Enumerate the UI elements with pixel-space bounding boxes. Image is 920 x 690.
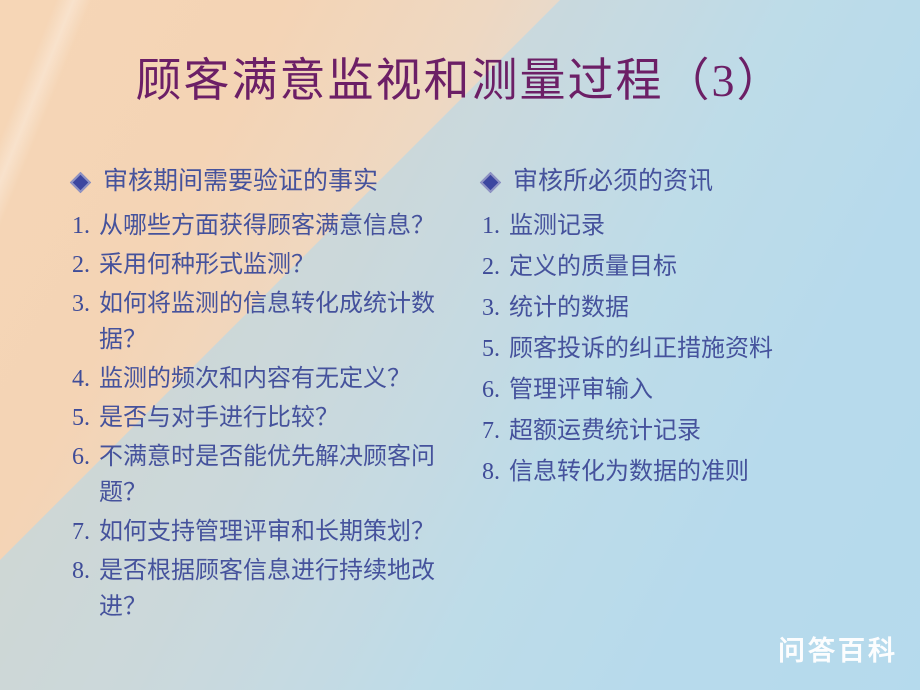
list-item-text: 信息转化为数据的准则 <box>509 454 882 490</box>
column-right-heading-label: 审核所必须的资讯 <box>513 166 713 198</box>
list-item: 8. 是否根据顾客信息进行持续地改进？ <box>72 553 472 625</box>
list-item-text: 是否与对手进行比较？ <box>99 400 472 436</box>
list-item-number: 5. <box>72 400 90 436</box>
column-left-list: 1. 从哪些方面获得顾客满意信息？ 2. 采用何种形式监测？ 3. 如何将监测的… <box>72 208 472 625</box>
list-item-number: 5. <box>482 331 500 367</box>
list-item: 7. 超额运费统计记录 <box>482 413 882 449</box>
list-item-text: 是否根据顾客信息进行持续地改进？ <box>99 553 472 625</box>
list-item-text: 采用何种形式监测？ <box>99 247 472 283</box>
list-item-text: 超额运费统计记录 <box>509 413 882 449</box>
list-item: 2. 定义的质量目标 <box>482 249 882 285</box>
list-item-text: 如何将监测的信息转化成统计数据？ <box>99 286 472 358</box>
diamond-bullet-icon <box>482 174 499 191</box>
column-right-heading: 审核所必须的资讯 <box>482 166 882 198</box>
list-item-number: 7. <box>482 413 500 449</box>
column-left-heading-label: 审核期间需要验证的事实 <box>103 166 378 198</box>
page-title: 顾客满意监视和测量过程（3） <box>0 44 920 110</box>
column-right: 审核所必须的资讯 1. 监测记录 2. 定义的质量目标 3. 统计的数据 5. … <box>482 166 882 495</box>
list-item: 1. 监测记录 <box>482 208 882 244</box>
slide-canvas: 顾客满意监视和测量过程（3） 审核期间需要验证的事实 1. 从哪些方面获得顾客满… <box>0 0 920 690</box>
list-item-number: 2. <box>482 249 500 285</box>
list-item-number: 3. <box>482 290 500 326</box>
list-item: 2. 采用何种形式监测？ <box>72 247 472 283</box>
list-item-number: 2. <box>72 247 90 283</box>
list-item: 3. 统计的数据 <box>482 290 882 326</box>
list-item-number: 1. <box>482 208 500 244</box>
list-item-number: 3. <box>72 286 90 322</box>
watermark: 问答百科 <box>778 629 898 668</box>
list-item: 5. 是否与对手进行比较？ <box>72 400 472 436</box>
list-item: 7. 如何支持管理评审和长期策划？ <box>72 514 472 550</box>
list-item: 6. 管理评审输入 <box>482 372 882 408</box>
list-item: 6. 不满意时是否能优先解决顾客问题？ <box>72 439 472 511</box>
column-left: 审核期间需要验证的事实 1. 从哪些方面获得顾客满意信息？ 2. 采用何种形式监… <box>72 166 472 628</box>
list-item-text: 定义的质量目标 <box>509 249 882 285</box>
list-item-text: 统计的数据 <box>509 290 882 326</box>
list-item: 5. 顾客投诉的纠正措施资料 <box>482 331 882 367</box>
list-item-number: 8. <box>482 454 500 490</box>
column-left-heading: 审核期间需要验证的事实 <box>72 166 472 198</box>
list-item-number: 4. <box>72 361 90 397</box>
list-item: 1. 从哪些方面获得顾客满意信息？ <box>72 208 472 244</box>
column-right-list: 1. 监测记录 2. 定义的质量目标 3. 统计的数据 5. 顾客投诉的纠正措施… <box>482 208 882 490</box>
list-item-text: 不满意时是否能优先解决顾客问题？ <box>99 439 472 511</box>
list-item-text: 顾客投诉的纠正措施资料 <box>509 331 882 367</box>
diamond-bullet-icon <box>72 174 89 191</box>
list-item-number: 6. <box>72 439 90 475</box>
list-item-text: 从哪些方面获得顾客满意信息？ <box>99 208 472 244</box>
list-item-number: 7. <box>72 514 90 550</box>
list-item-text: 监测记录 <box>509 208 882 244</box>
list-item-text: 如何支持管理评审和长期策划？ <box>99 514 472 550</box>
list-item: 8. 信息转化为数据的准则 <box>482 454 882 490</box>
list-item-number: 6. <box>482 372 500 408</box>
list-item-text: 监测的频次和内容有无定义？ <box>99 361 472 397</box>
list-item: 4. 监测的频次和内容有无定义？ <box>72 361 472 397</box>
list-item-text: 管理评审输入 <box>509 372 882 408</box>
list-item-number: 1. <box>72 208 90 244</box>
list-item: 3. 如何将监测的信息转化成统计数据？ <box>72 286 472 358</box>
list-item-number: 8. <box>72 553 90 589</box>
